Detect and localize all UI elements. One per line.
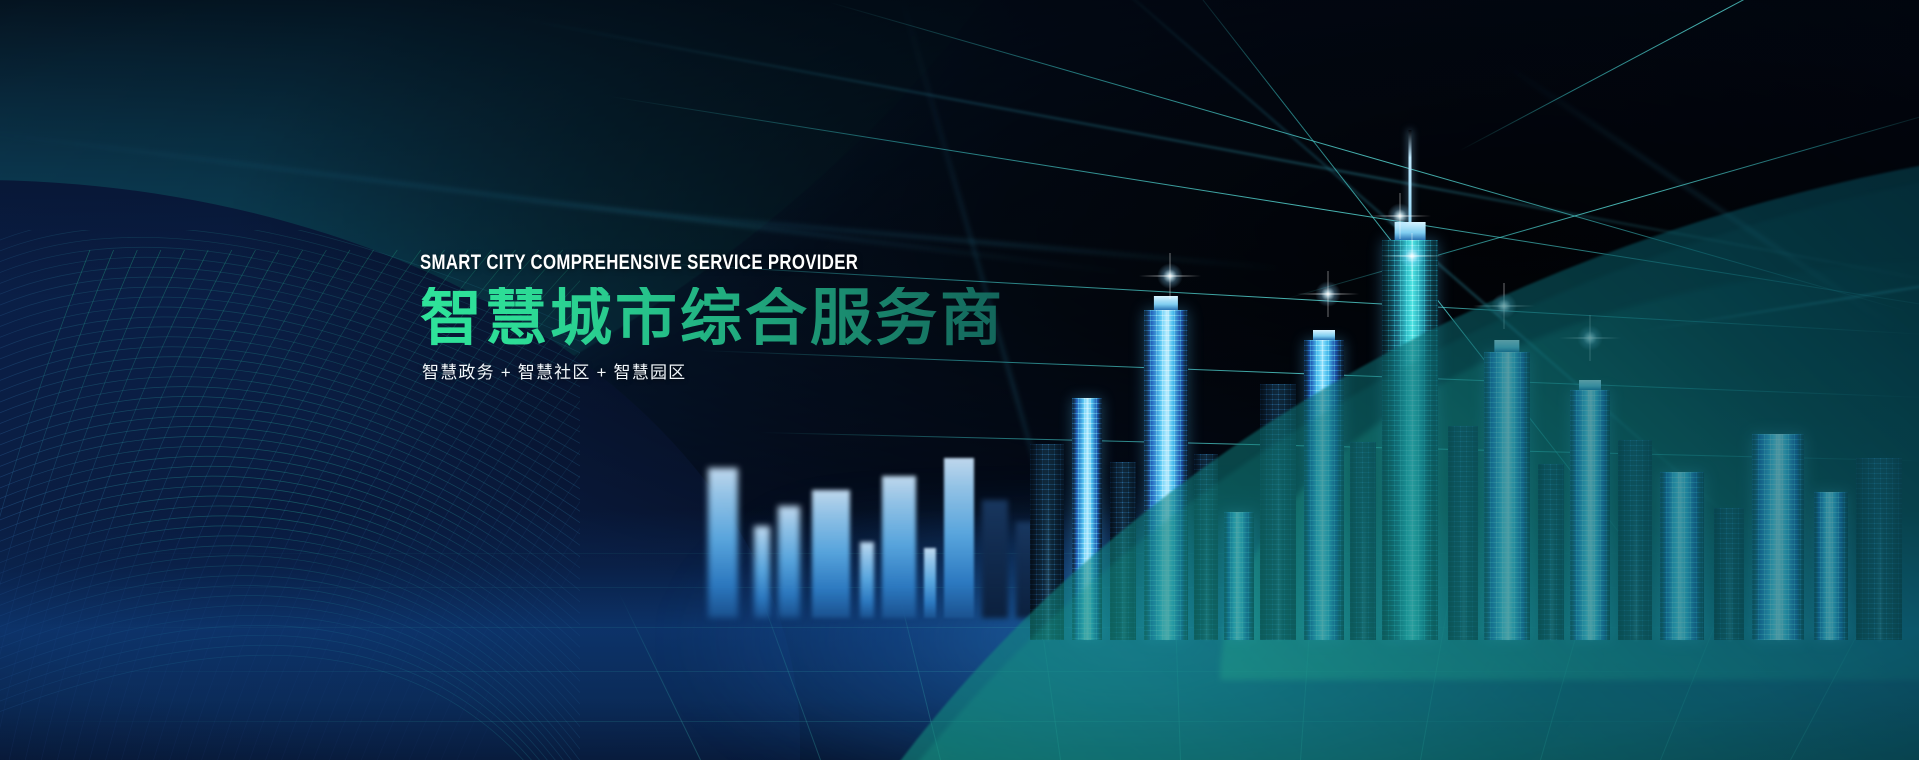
foreground-bar-4 [860,542,874,618]
building-cap [1154,296,1178,310]
building-cap [1313,330,1335,340]
foreground-bar-8 [982,500,1008,618]
building-spire [1409,130,1412,222]
foreground-bar-3 [812,490,850,618]
smart-city-hero-banner: SMART CITY COMPREHENSIVE SERVICE PROVIDE… [0,0,1919,760]
hero-headline: 智慧城市综合服务商 [420,287,1005,350]
foreground-bar-1 [754,526,770,618]
building-sparkle-5 [1315,281,1341,307]
hero-text-block: SMART CITY COMPREHENSIVE SERVICE PROVIDE… [420,252,1005,381]
foreground-bar-5 [882,476,916,618]
ground-gridline-v-0 [617,589,701,760]
foreground-bar-2 [778,506,800,618]
foreground-bar-6 [924,548,936,618]
hero-subline: 智慧政务 + 智慧社区 + 智慧园区 [422,364,1005,381]
foreground-bar-0 [708,468,738,618]
foreground-bar-7 [944,458,974,618]
hero-eyebrow: SMART CITY COMPREHENSIVE SERVICE PROVIDE… [420,252,888,273]
building-cap [1395,222,1426,240]
building-sparkle-0 [1157,263,1183,289]
